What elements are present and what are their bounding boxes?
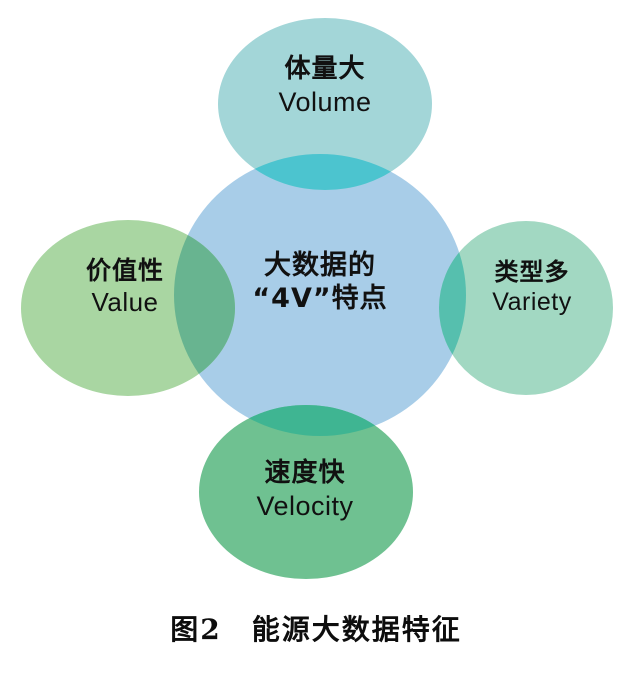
venn-diagram: 体量大 Volume 价值性 Value 类型多 Variety 速度快 Vel… [0, 0, 632, 600]
figure-container: 体量大 Volume 价值性 Value 类型多 Variety 速度快 Vel… [0, 0, 632, 676]
center-label-line1: 大数据的 [186, 250, 454, 283]
center-label-line2: “4V”特点 [186, 283, 454, 316]
volume-label-en: Volume [215, 86, 435, 119]
velocity-bubble-label: 速度快 Velocity [198, 458, 412, 523]
variety-label-en: Variety [447, 287, 617, 318]
variety-bubble-label: 类型多 Variety [447, 258, 617, 318]
volume-label-cn: 体量大 [215, 54, 435, 86]
velocity-label-en: Velocity [198, 490, 412, 523]
variety-label-cn: 类型多 [447, 258, 617, 287]
figure-caption: 图2 能源大数据特征 [0, 608, 632, 648]
velocity-label-cn: 速度快 [198, 458, 412, 490]
center-bubble-label: 大数据的 “4V”特点 [186, 250, 454, 316]
volume-bubble-label: 体量大 Volume [215, 54, 435, 119]
